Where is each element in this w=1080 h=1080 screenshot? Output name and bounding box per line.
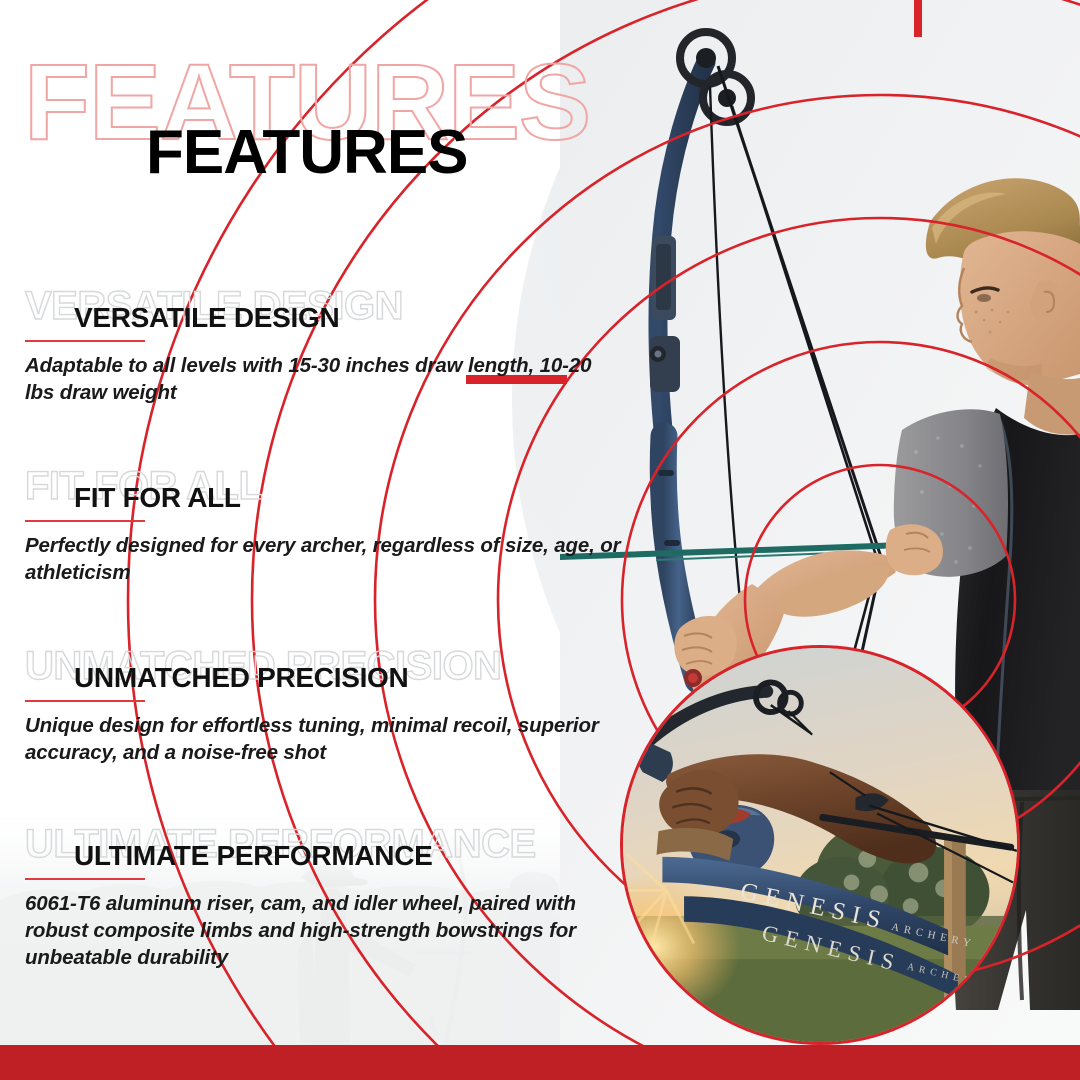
page-title: FEATURES <box>146 122 468 184</box>
feature-description: Perfectly designed for every archer, reg… <box>25 532 625 586</box>
feature-item: UNMATCHED PRECISION UNMATCHED PRECISION … <box>0 646 640 766</box>
feature-title: UNMATCHED PRECISION <box>74 664 408 692</box>
feature-title: ULTIMATE PERFORMANCE <box>74 842 433 870</box>
feature-list: VERSATILE DESIGN VERSATILE DESIGN Adapta… <box>0 286 640 971</box>
feature-description: 6061-T6 aluminum riser, cam, and idler w… <box>25 890 625 971</box>
poster-canvas: GENESIS ARCHERY GENESIS ARCHERY FEATURES… <box>0 0 1080 1080</box>
header: FEATURES FEATURES <box>0 0 720 230</box>
inset-bow-closeup-photo: GENESIS ARCHERY GENESIS ARCHERY <box>620 645 1020 1045</box>
feature-underline <box>25 878 145 880</box>
feature-description: Unique design for effortless tuning, min… <box>25 712 625 766</box>
feature-title-wrap: ULTIMATE PERFORMANCE ULTIMATE PERFORMANC… <box>0 824 640 872</box>
feature-item: FIT FOR ALL FIT FOR ALL Perfectly design… <box>0 466 640 586</box>
feature-title-wrap: FIT FOR ALL FIT FOR ALL <box>0 466 640 514</box>
feature-title-wrap: VERSATILE DESIGN VERSATILE DESIGN <box>0 286 640 334</box>
feature-title: FIT FOR ALL <box>74 484 241 512</box>
bottom-accent-bar <box>0 1045 1080 1080</box>
feature-underline <box>25 520 145 522</box>
feature-item: ULTIMATE PERFORMANCE ULTIMATE PERFORMANC… <box>0 824 640 971</box>
feature-underline <box>25 700 145 702</box>
feature-title-wrap: UNMATCHED PRECISION UNMATCHED PRECISION <box>0 646 640 694</box>
feature-description: Adaptable to all levels with 15-30 inche… <box>25 352 625 406</box>
tick-mark-vertical <box>914 0 922 37</box>
feature-item: VERSATILE DESIGN VERSATILE DESIGN Adapta… <box>0 286 640 406</box>
feature-title: VERSATILE DESIGN <box>74 304 339 332</box>
feature-underline <box>25 340 145 342</box>
